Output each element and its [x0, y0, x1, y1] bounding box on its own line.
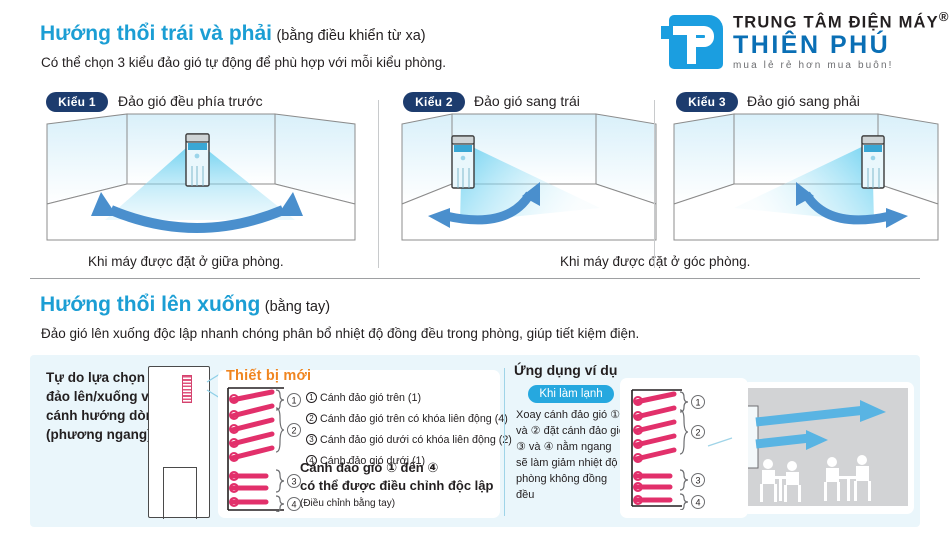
- example-louver-diagram: 1 2 3 4: [628, 386, 740, 510]
- example-description: Xoay cánh đảo gió ① và ② đặt cánh đảo gi…: [516, 408, 626, 504]
- example-room-scene: [748, 388, 908, 508]
- room-diagram-kieu-3: [672, 112, 940, 244]
- louver-legend-text-1: Cánh đảo gió trên (1): [320, 392, 421, 404]
- svg-text:1: 1: [291, 396, 296, 406]
- cooling-mode-badge: Khi làm lạnh: [528, 385, 614, 403]
- badge-kieu-1: Kiểu 1: [46, 92, 108, 112]
- section-divider: [30, 278, 920, 279]
- adjustable-note-line2: có thể được điều chỉnh độc lập: [300, 478, 493, 493]
- logo-brand-name: THIÊN PHÚ: [733, 32, 950, 58]
- svg-text:3: 3: [695, 476, 700, 486]
- adjustable-note: Cánh đảo gió ① đến ④ có thể được điều ch…: [300, 459, 500, 511]
- section1-heading-main: Hướng thổi trái và phải: [40, 22, 272, 45]
- adjustable-note-sub: (Điều chỉnh bằng tay): [300, 497, 500, 511]
- logo-line1: TRUNG TÂM ĐIỆN MÁY®: [733, 10, 950, 32]
- svg-text:1: 1: [695, 398, 700, 408]
- logo-line1-text: TRUNG TÂM ĐIỆN MÁY: [733, 14, 939, 32]
- title-kieu-2: Đảo gió sang trái: [474, 93, 580, 109]
- unit-side-view-diagram: [148, 366, 210, 518]
- svg-text:4: 4: [291, 500, 296, 510]
- circled-number-2: 2: [306, 413, 317, 424]
- louver-stack-diagram: 1 2 3 4: [226, 386, 304, 512]
- section2-heading-sub: (bằng tay): [265, 299, 330, 315]
- unit-front-panel: [163, 467, 197, 519]
- section1-description: Có thể chọn 3 kiểu đảo gió tự động để ph…: [41, 55, 446, 70]
- room-diagram-kieu-1: [45, 112, 357, 244]
- title-kieu-1: Đảo gió đều phía trước: [118, 93, 263, 109]
- logo-tagline: mua lẻ rẻ hơn mua buôn!: [733, 59, 950, 72]
- svg-text:3: 3: [291, 477, 296, 487]
- section2-heading-main: Hướng thổi lên xuống: [40, 293, 260, 316]
- svg-text:2: 2: [695, 428, 700, 438]
- badge-kieu-3: Kiểu 3: [676, 92, 738, 112]
- caption-kieu-1: Khi máy được đặt ở giữa phòng.: [88, 254, 284, 269]
- louver-slot-icon: [182, 375, 192, 403]
- title-kieu-3: Đảo gió sang phải: [747, 93, 860, 109]
- section2-heading: Hướng thổi lên xuống (bằng tay): [40, 293, 330, 317]
- caption-kieu-2-3: Khi máy được đặt ở góc phòng.: [560, 254, 750, 269]
- panel-divider-1: [378, 100, 379, 268]
- section1-heading: Hướng thổi trái và phải (bằng điều khiển…: [40, 22, 426, 46]
- svg-text:4: 4: [695, 498, 700, 508]
- badge-kieu-2: Kiểu 2: [403, 92, 465, 112]
- circled-number-3: 3: [306, 434, 317, 445]
- example-column-divider: [504, 368, 505, 516]
- new-device-label: Thiết bị mới: [226, 368, 311, 384]
- louver-legend-item-1: 1Cánh đảo gió trên (1): [306, 388, 502, 409]
- louver-legend-text-2: Cánh đảo gió trên có khóa liên động (4): [320, 413, 508, 425]
- brand-logo: TRUNG TÂM ĐIỆN MÁY® THIÊN PHÚ mua lẻ rẻ …: [661, 6, 946, 76]
- registered-mark-icon: ®: [939, 9, 950, 24]
- section2-description: Đảo gió lên xuống độc lập nhanh chóng ph…: [41, 326, 639, 341]
- circled-number-1: 1: [306, 392, 317, 403]
- louver-legend-item-3: 3Cánh đảo gió dưới có khóa liên động (2): [306, 430, 502, 451]
- room-diagram-kieu-2: [400, 112, 658, 244]
- section1-heading-sub: (bằng điều khiển từ xa): [276, 28, 425, 44]
- louver-legend-text-3: Cánh đảo gió dưới có khóa liên động (2): [320, 434, 512, 446]
- louver-legend-item-2: 2Cánh đảo gió trên có khóa liên động (4): [306, 409, 502, 430]
- svg-text:2: 2: [291, 426, 296, 436]
- logo-mark-icon: [661, 12, 723, 70]
- adjustable-note-line1: Cánh đảo gió ① đến ④: [300, 460, 438, 475]
- example-heading: Ứng dụng ví dụ: [514, 362, 617, 378]
- panel-divider-2: [654, 100, 655, 268]
